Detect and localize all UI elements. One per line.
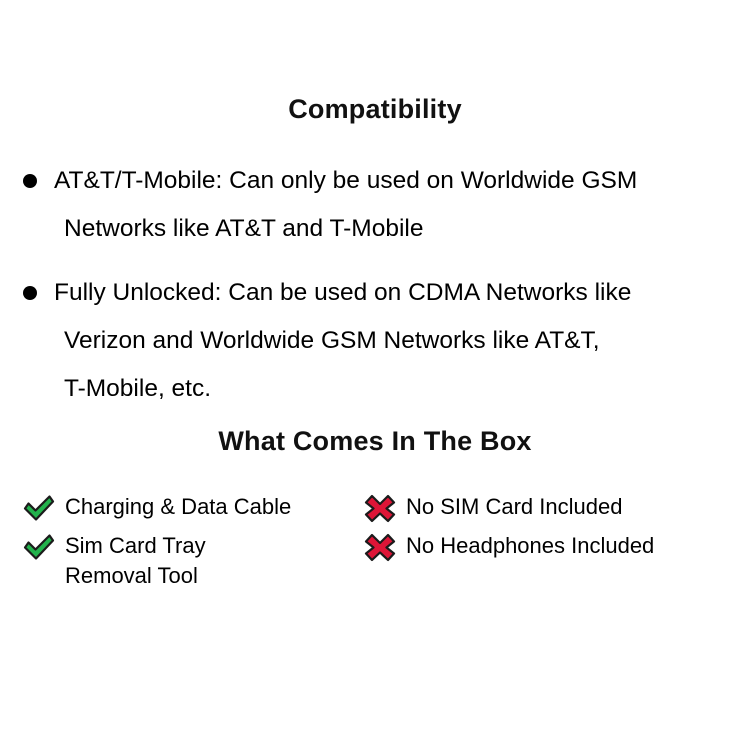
excluded-items-column: No SIM Card Included No Headphones Inclu… [360, 492, 750, 570]
box-contents-grid: Charging & Data Cable Sim Card Tray Remo… [0, 492, 750, 598]
bullet-line-primary: AT&T/T-Mobile: Can only be used on World… [54, 157, 736, 205]
cross-icon [363, 493, 397, 524]
list-item: Fully Unlocked: Can be used on CDMA Netw… [22, 269, 736, 413]
bullet-line-continuation: Networks like AT&T and T-Mobile [54, 205, 736, 253]
bullet-dot-icon [23, 286, 37, 300]
box-contents-heading: What Comes In The Box [0, 426, 750, 457]
check-icon [22, 493, 56, 524]
check-icon [22, 532, 56, 563]
excluded-item-label: No Headphones Included [406, 531, 654, 561]
bullet-dot-icon [23, 174, 37, 188]
bullet-line-continuation: T-Mobile, etc. [54, 365, 736, 413]
bullet-line-primary: Fully Unlocked: Can be used on CDMA Netw… [54, 269, 736, 317]
included-items-column: Charging & Data Cable Sim Card Tray Remo… [0, 492, 360, 598]
cross-icon [363, 532, 397, 563]
bullet-line-continuation: Verizon and Worldwide GSM Networks like … [54, 317, 736, 365]
list-item: No SIM Card Included [363, 492, 750, 524]
product-info-panel: Compatibility AT&T/T-Mobile: Can only be… [0, 0, 750, 750]
excluded-item-label: No SIM Card Included [406, 492, 622, 522]
list-item: Charging & Data Cable [22, 492, 360, 524]
included-item-label: Sim Card Tray Removal Tool [65, 531, 206, 591]
list-item: AT&T/T-Mobile: Can only be used on World… [22, 157, 736, 253]
included-item-label: Charging & Data Cable [65, 492, 291, 522]
list-item: Sim Card Tray Removal Tool [22, 531, 360, 591]
list-item: No Headphones Included [363, 531, 750, 563]
compatibility-bullet-list: AT&T/T-Mobile: Can only be used on World… [22, 157, 736, 413]
compatibility-heading: Compatibility [0, 94, 750, 125]
